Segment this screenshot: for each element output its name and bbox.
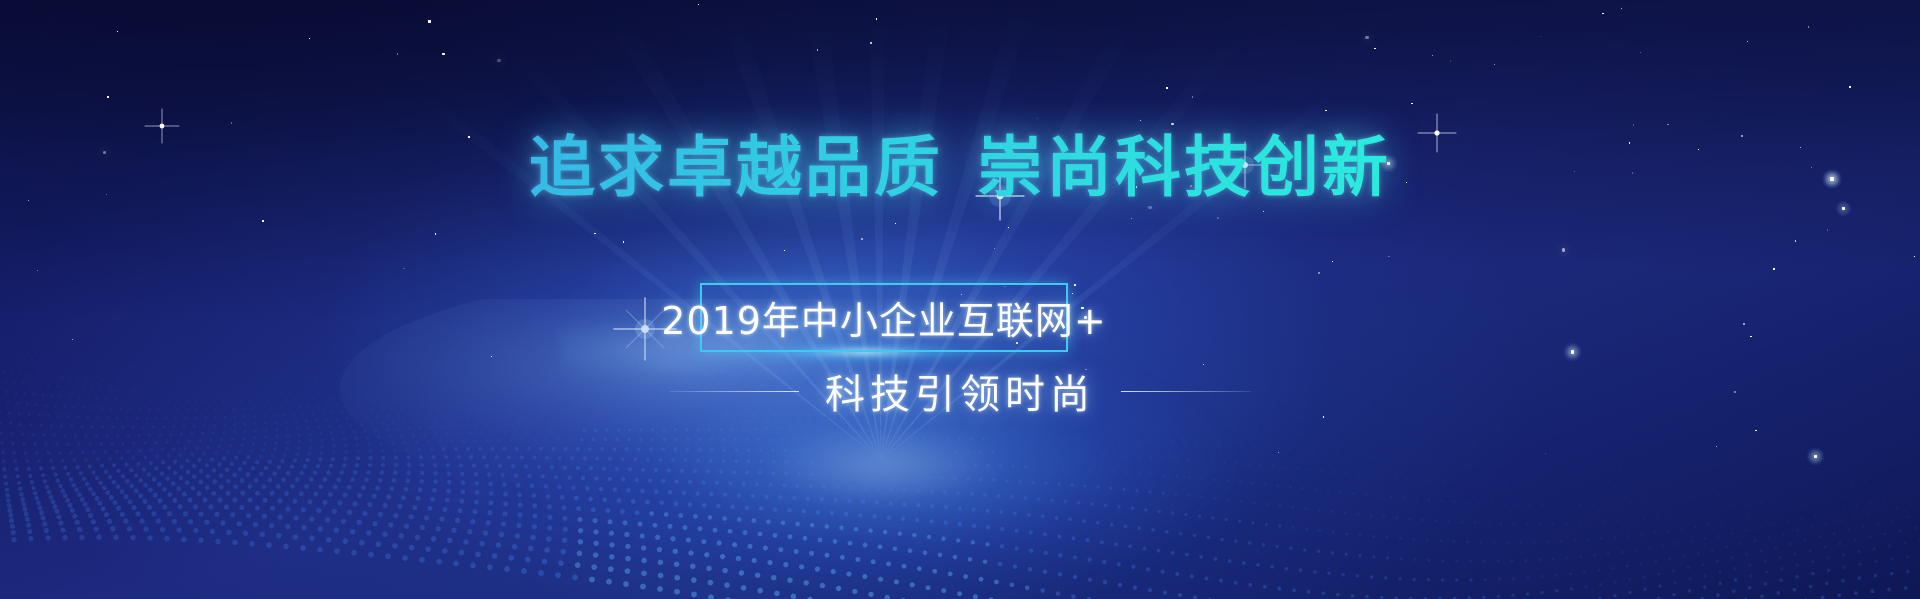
tech-banner: 追求卓越品质崇尚科技创新 2019年中小企业互联网+ 科技引领时尚	[0, 0, 1920, 599]
tagline-text: 科技引领时尚	[825, 362, 1095, 420]
subtitle-text: 2019年中小企业互联网+	[661, 290, 1107, 345]
tagline-row: 科技引领时尚	[0, 362, 1920, 420]
divider-left	[669, 391, 799, 392]
subtitle-box: 2019年中小企业互联网+	[700, 283, 1068, 352]
headline-part-2: 崇尚科技创新	[977, 129, 1391, 206]
banner-content: 追求卓越品质崇尚科技创新 2019年中小企业互联网+ 科技引领时尚	[0, 0, 1920, 599]
divider-right	[1121, 391, 1251, 392]
headline-part-1: 追求卓越品质	[529, 129, 943, 206]
headline: 追求卓越品质崇尚科技创新	[0, 132, 1920, 203]
